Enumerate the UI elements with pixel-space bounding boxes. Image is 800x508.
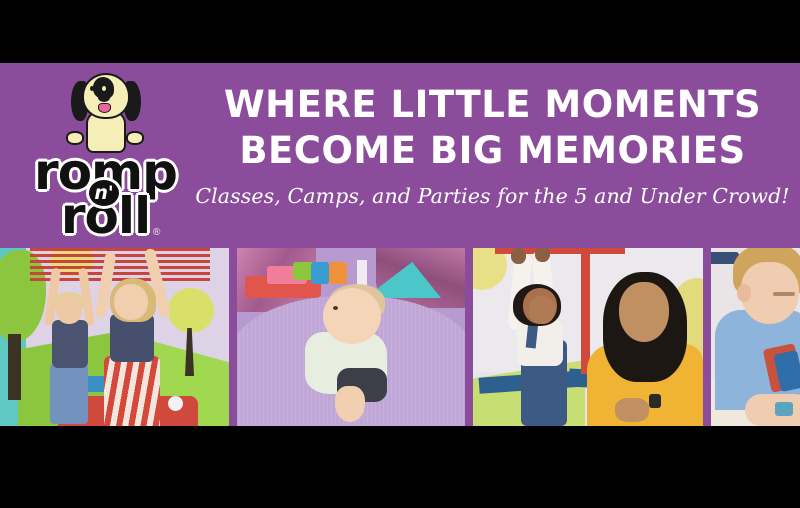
hero-band: romp roll n' ® WHERE LITTLE MOMENTS BECO…: [0, 63, 800, 248]
photo-3-girl-and-teacher: [473, 248, 703, 426]
letterbox-bottom: [0, 426, 800, 508]
headline-line-2: BECOME BIG MEMORIES: [185, 129, 800, 173]
hero-copy: WHERE LITTLE MOMENTS BECOME BIG MEMORIES…: [185, 63, 800, 248]
dog-paw-left: [66, 131, 84, 145]
photo-2-tummy-time: [237, 248, 465, 426]
romp-n-roll-logo[interactable]: romp roll n' ®: [28, 67, 183, 245]
banner-image: romp roll n' ® WHERE LITTLE MOMENTS BECO…: [0, 0, 800, 508]
tagline: Classes, Camps, and Parties for the 5 an…: [185, 183, 800, 209]
dog-tongue: [98, 103, 111, 113]
logo-badge-n: n': [86, 177, 122, 209]
headline-line-1: WHERE LITTLE MOMENTS: [185, 83, 800, 127]
dog-mascot-icon: [68, 69, 144, 155]
dog-eye-right: [102, 86, 106, 91]
photo-strip: [0, 248, 800, 426]
photo-1-monkey-bars: [0, 248, 229, 426]
photo-4-boy-at-table: [711, 248, 800, 426]
dog-paw-right: [126, 131, 144, 145]
letterbox-top: [0, 0, 800, 63]
registered-trademark-icon: ®: [153, 227, 160, 238]
dog-nose: [98, 93, 110, 102]
dog-eye-left: [90, 86, 94, 91]
